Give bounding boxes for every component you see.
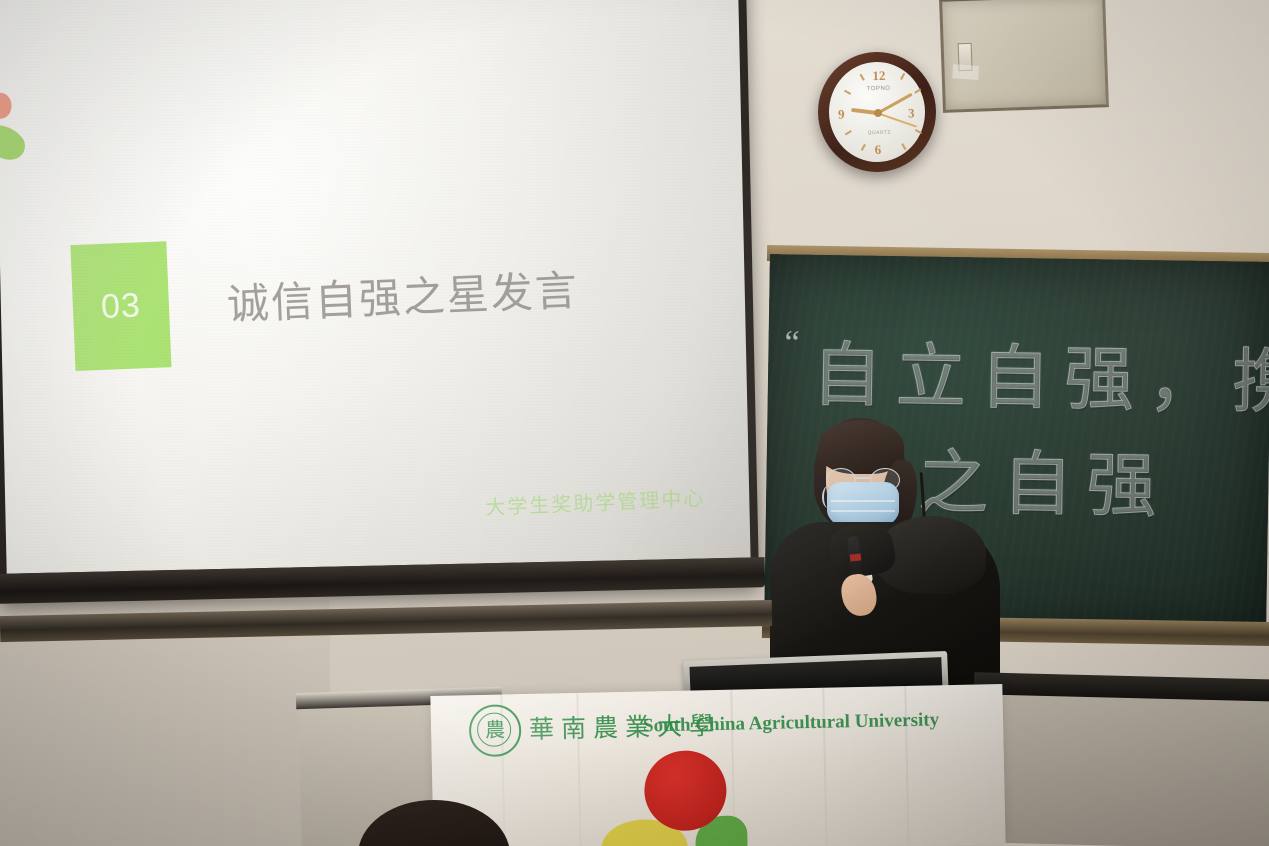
clock-tick xyxy=(859,74,864,81)
clock-numeral-9: 9 xyxy=(838,107,845,123)
microphone-band xyxy=(850,553,862,561)
classroom-scene: 12 3 6 9 TOPNO QUARTZ “ 自立自强，携 之自强 xyxy=(0,0,1269,846)
clock-sub-label: QUARTZ xyxy=(859,130,899,137)
clock-numeral-3: 3 xyxy=(908,105,915,121)
screen-surface: 03 诚信自强之星发言 大学生奖助学管理中心 xyxy=(0,0,751,574)
mask-fold xyxy=(831,510,895,512)
cloth-sheen xyxy=(430,684,1005,846)
clock-numeral-12: 12 xyxy=(872,68,885,84)
chalk-quote-mark: “ xyxy=(784,324,800,362)
podium-banner-cloth: 農 華南農業大學 South China Agricultural Univer… xyxy=(430,684,1005,846)
clock-numeral-6: 6 xyxy=(875,142,882,158)
clock-tick xyxy=(915,129,922,134)
slide-footer-org: 大学生奖助学管理中心 xyxy=(485,482,706,520)
wall-access-panel xyxy=(939,0,1109,113)
projection-screen: 03 诚信自强之星发言 大学生奖助学管理中心 xyxy=(0,0,772,630)
mask-ear-loop xyxy=(822,486,834,508)
glasses-bridge xyxy=(854,477,870,479)
slide-heading: 诚信自强之星发言 xyxy=(226,257,580,332)
clock-tick xyxy=(861,144,866,151)
student-aid-logo xyxy=(0,91,54,175)
clock-tick xyxy=(844,90,851,95)
clock-tick xyxy=(914,88,921,93)
clock-tick xyxy=(901,143,906,150)
slide-index-box: 03 xyxy=(70,241,171,371)
clock-center-pin xyxy=(874,109,882,117)
panel-tape xyxy=(952,64,979,80)
clock-tick xyxy=(900,73,905,80)
clock-face: 12 3 6 9 TOPNO QUARTZ xyxy=(828,61,926,163)
clock-brand-label: TOPNO xyxy=(859,86,899,93)
right-desk xyxy=(978,680,1269,846)
clock-tick xyxy=(845,130,852,135)
presentation-slide: 03 诚信自强之星发言 大学生奖助学管理中心 xyxy=(0,0,751,574)
mask-fold xyxy=(831,500,895,502)
slide-index-number: 03 xyxy=(100,286,141,327)
